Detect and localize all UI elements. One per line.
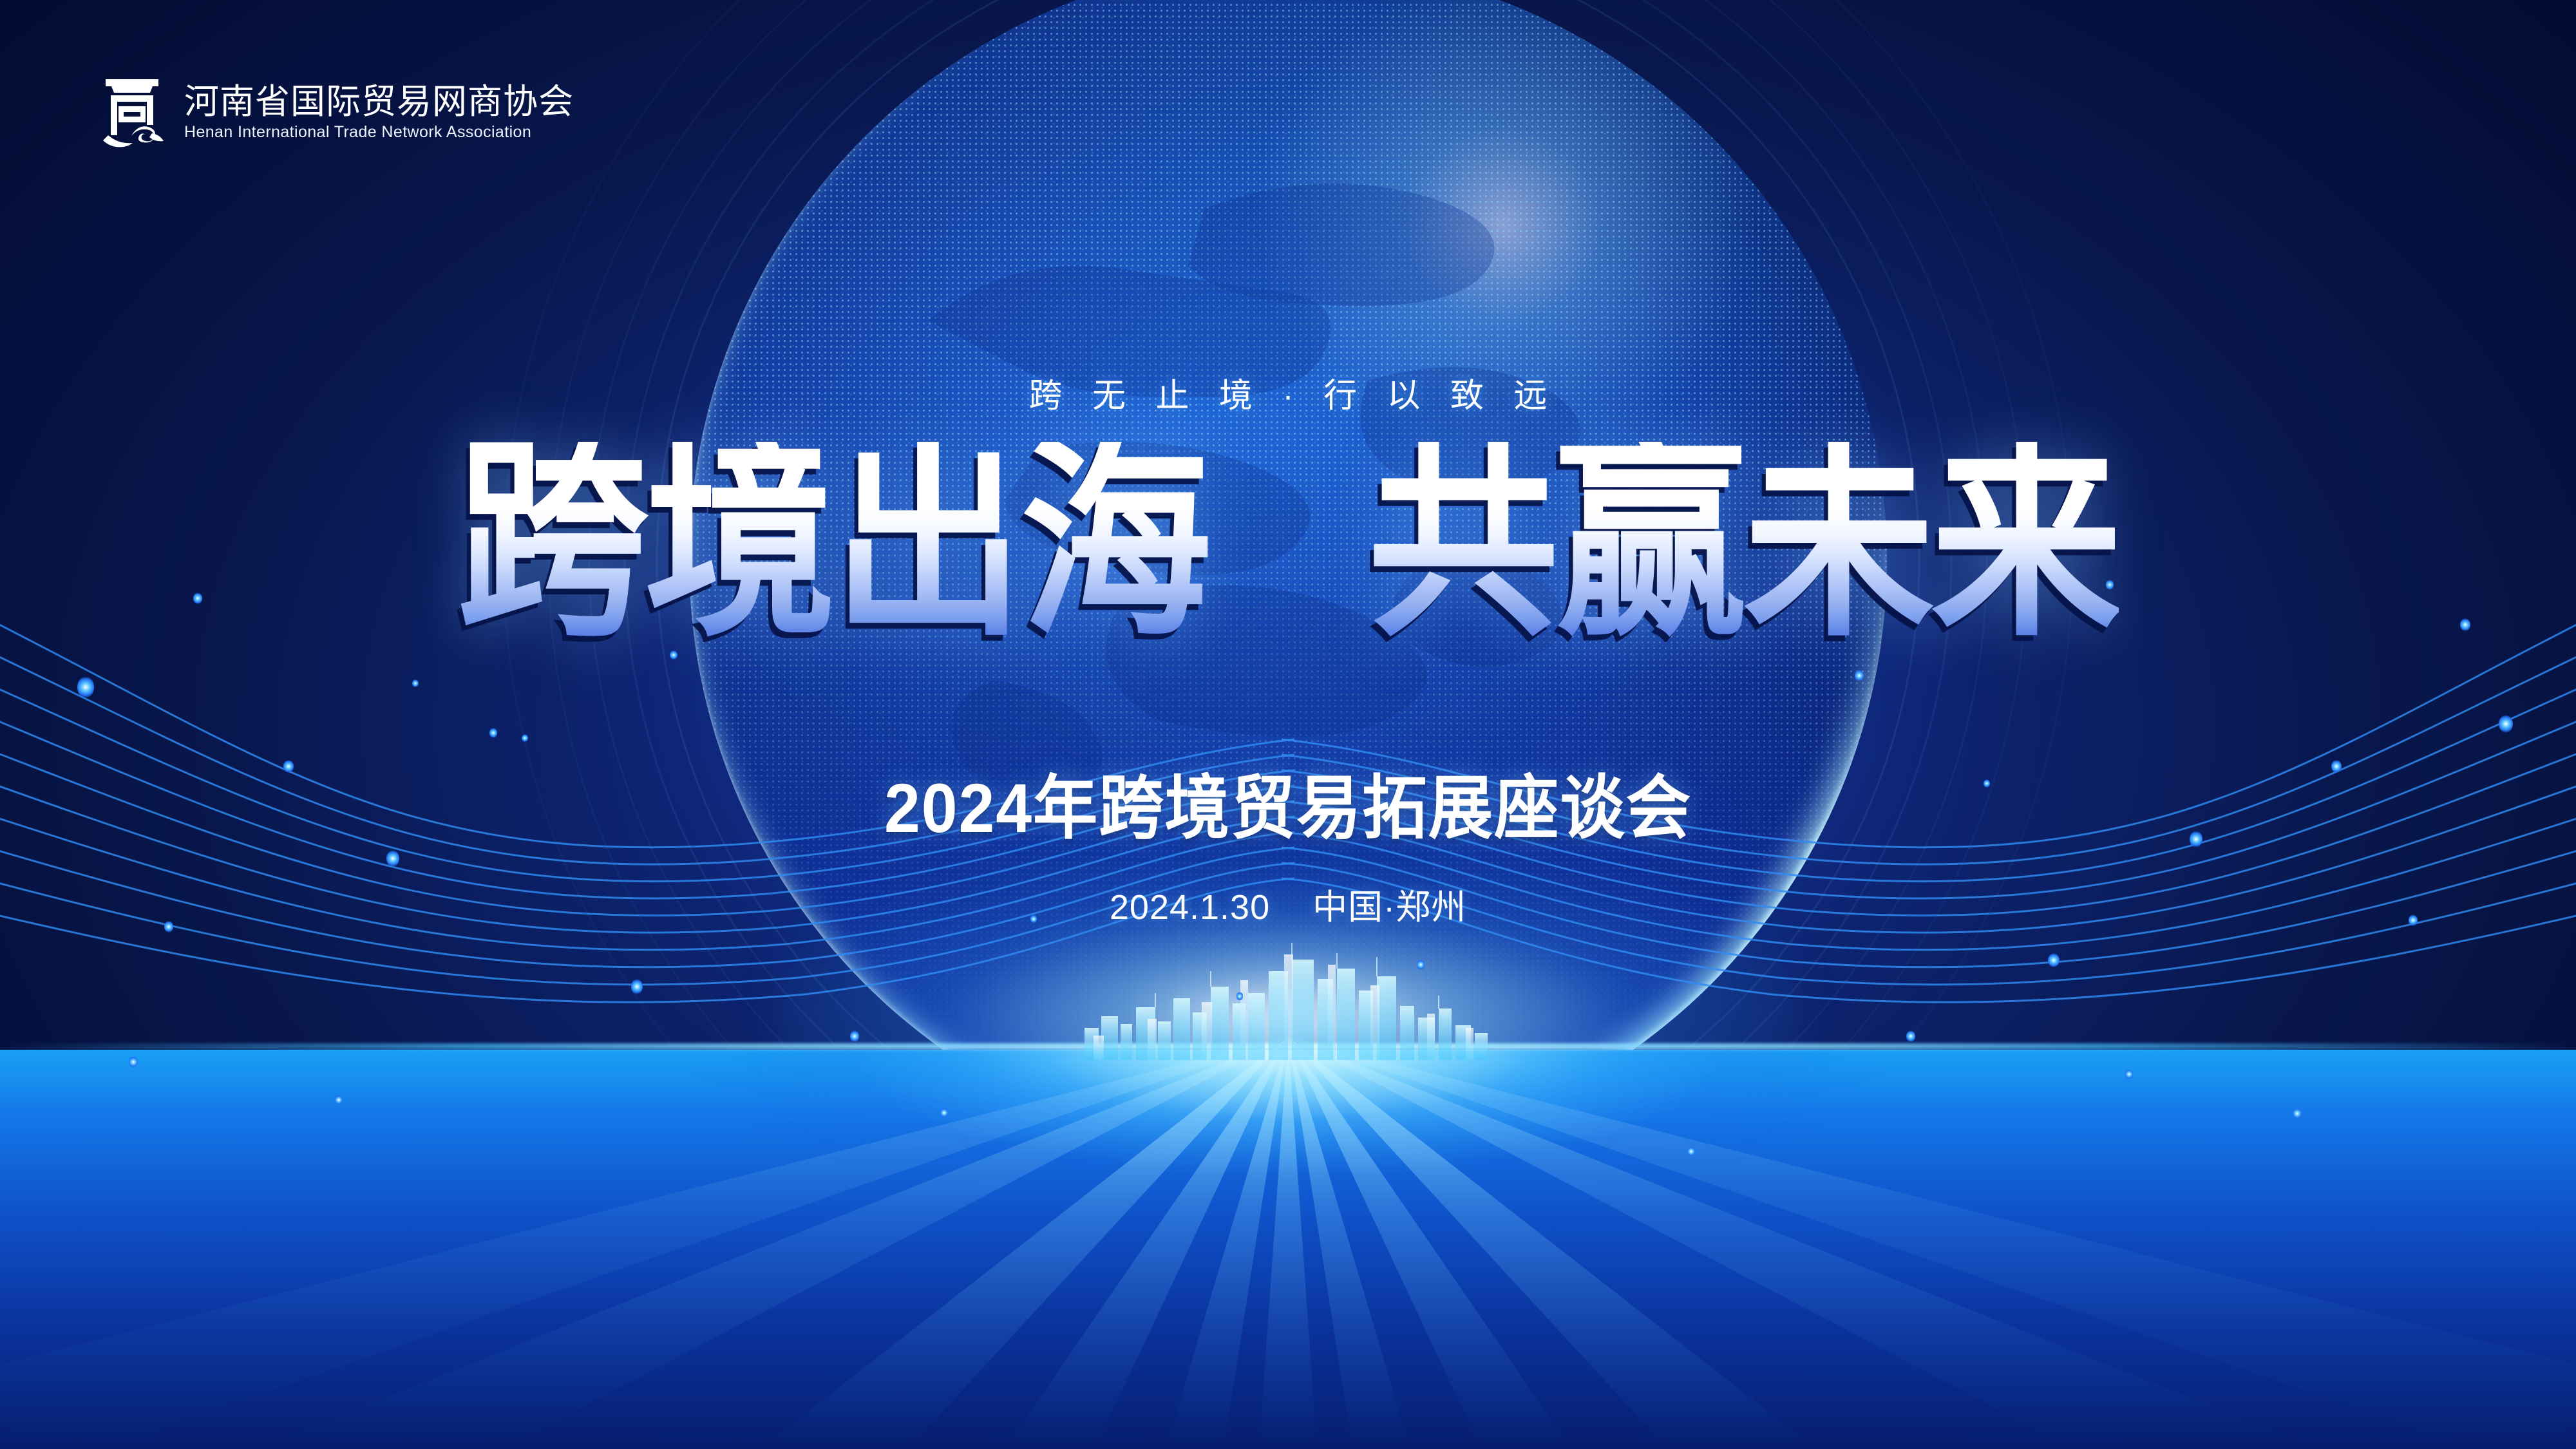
poster-canvas: 河南省国际贸易网商协会 Henan International Trade Ne… — [0, 0, 2576, 1449]
glowing-particles-icon — [0, 0, 2576, 1449]
hero-title-text-2: 共赢未来 — [1368, 442, 2119, 641]
seal-script-emblem-icon — [97, 74, 167, 150]
event-date-location: 2024.1.30 中国·郑州 — [0, 878, 2576, 929]
hero-title-part-1: 跨境出海 — [415, 442, 1250, 641]
hero-title-part-2: 共赢未来 — [1326, 442, 2161, 641]
association-logo[interactable]: 河南省国际贸易网商协会 Henan International Trade Ne… — [97, 74, 574, 150]
logo-name-en: Henan International Trade Network Associ… — [184, 124, 574, 140]
logo-name-cn: 河南省国际贸易网商协会 — [184, 84, 574, 119]
hero-tagline: 跨 无 止 境 · 行 以 致 远 — [0, 368, 2576, 417]
hero-title-text-1: 跨境出海 — [457, 442, 1208, 641]
event-location: 中国·郑州 — [1312, 888, 1466, 927]
hero-title: 跨境出海 共赢未来 — [0, 442, 2576, 641]
hero-subtitle: 2024年跨境贸易拓展座谈会 — [90, 752, 2486, 853]
event-date: 2024.1.30 — [1110, 888, 1270, 927]
